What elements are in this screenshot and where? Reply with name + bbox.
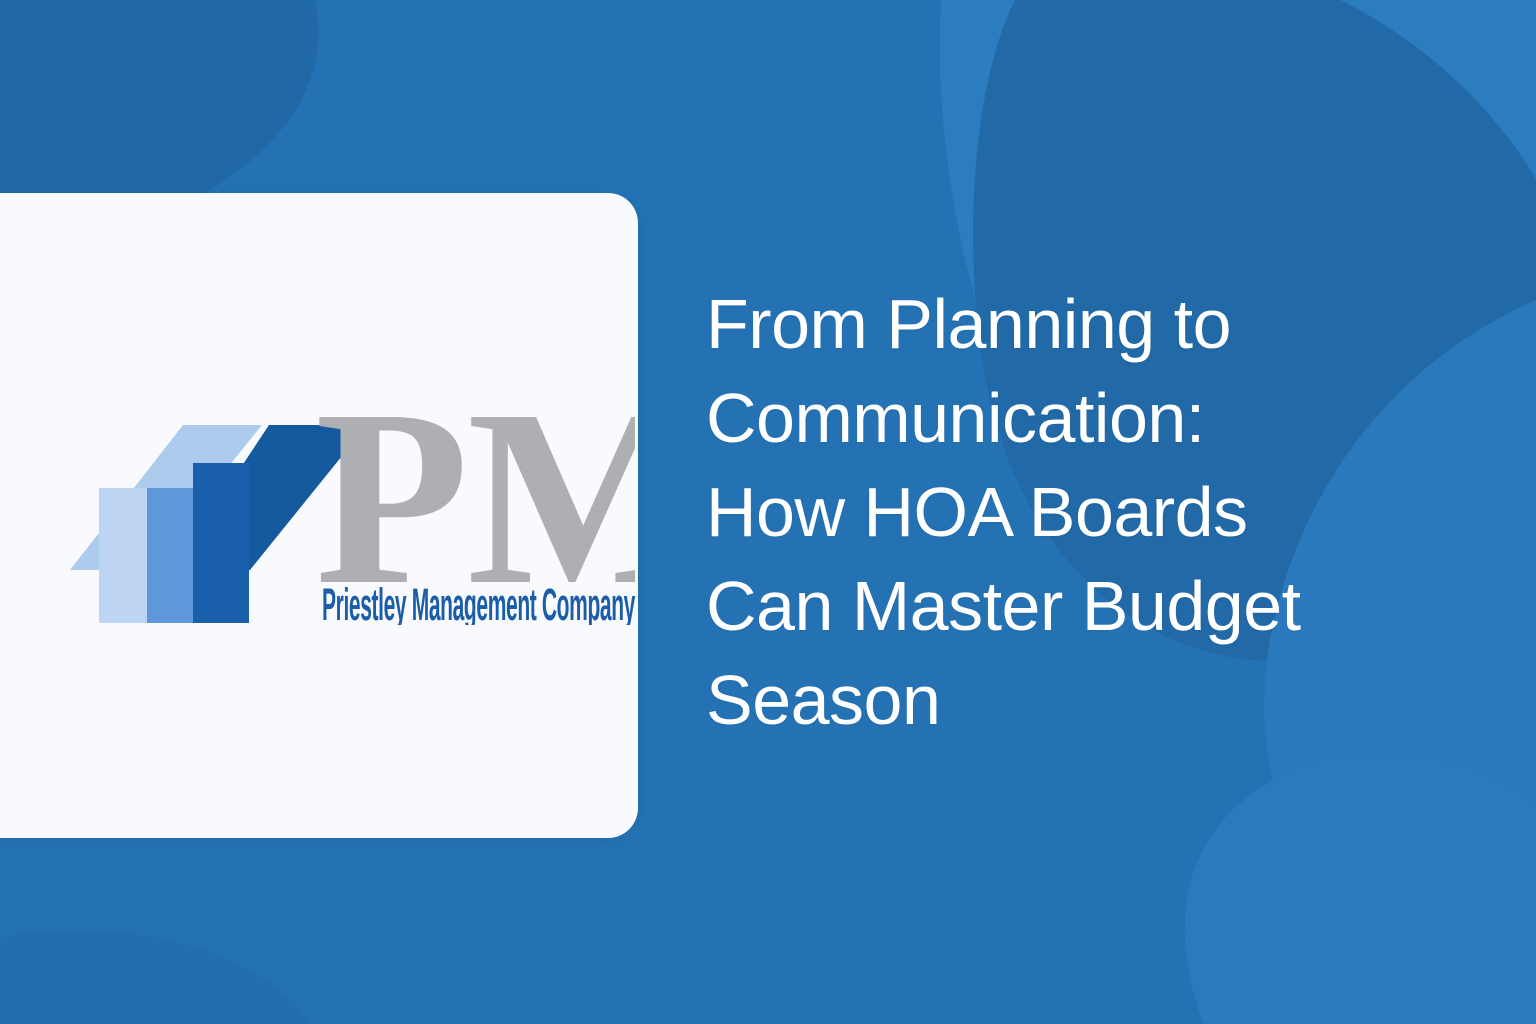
- pmc-logo: PMC Priestley Management Company: [15, 370, 635, 625]
- logo-card: PMC Priestley Management Company: [0, 193, 638, 838]
- logo-bar-light-icon: [99, 488, 147, 623]
- blog-banner: PMC Priestley Management Company From Pl…: [0, 0, 1536, 1024]
- page-title: From Planning to Communication: How HOA …: [706, 277, 1496, 747]
- logo-tagline: Priestley Management Company: [322, 579, 635, 625]
- logo-bar-medium-icon: [147, 488, 193, 623]
- pmc-logo-svg: PMC Priestley Management Company: [15, 370, 635, 625]
